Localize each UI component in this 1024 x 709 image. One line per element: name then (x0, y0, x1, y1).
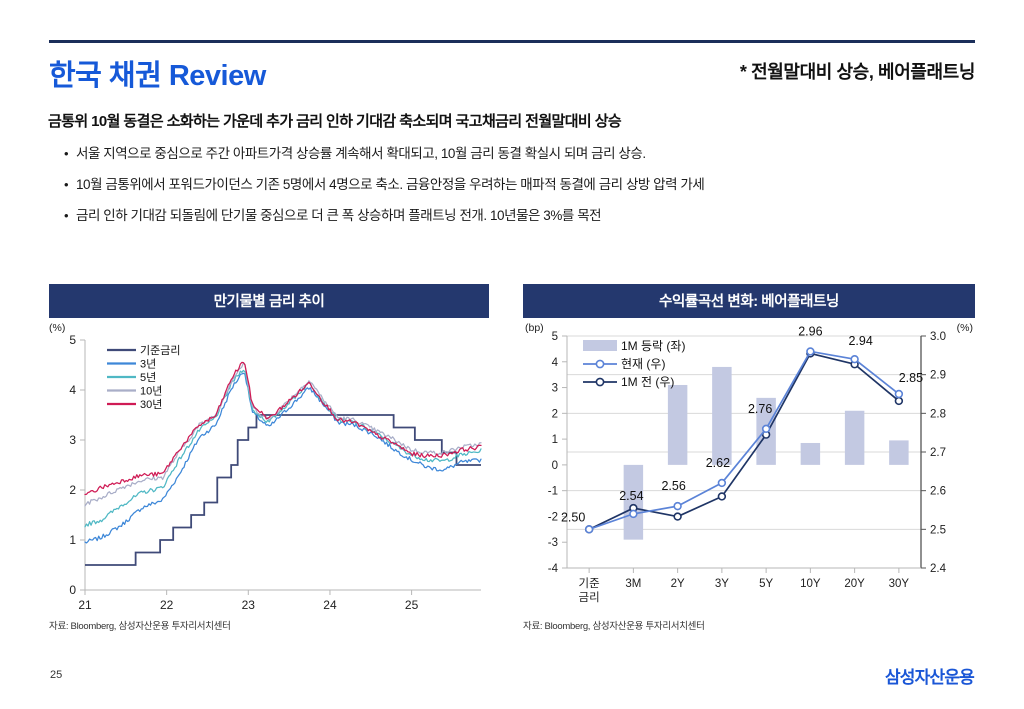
svg-text:3: 3 (552, 383, 558, 395)
svg-text:2.54: 2.54 (619, 489, 643, 503)
svg-text:3.0: 3.0 (930, 331, 946, 343)
svg-text:2.76: 2.76 (748, 402, 772, 416)
svg-text:2.96: 2.96 (798, 324, 822, 338)
svg-text:24: 24 (323, 598, 337, 612)
bullet-dot-icon: • (64, 176, 76, 194)
svg-text:2.85: 2.85 (899, 371, 923, 385)
svg-text:4: 4 (552, 357, 559, 369)
chart-source-maturity: 자료: Bloomberg, 삼성자산운용 투자리서치센터 (49, 618, 231, 632)
svg-text:2.50: 2.50 (561, 510, 585, 524)
svg-text:2.8: 2.8 (930, 408, 946, 420)
line-chart-maturity-svg: 0123452122232425기준금리3년5년10년30년 (49, 318, 489, 636)
list-item: • 금리 인하 기대감 되돌림에 단기물 중심으로 더 큰 폭 상승하며 플래트… (64, 207, 994, 225)
svg-text:기준: 기준 (579, 577, 600, 590)
svg-text:5: 5 (552, 331, 558, 343)
bullet-text: 서울 지역으로 중심으로 주간 아파트가격 상승률 계속해서 확대되고, 10월… (76, 145, 646, 163)
svg-text:25: 25 (405, 598, 419, 612)
svg-text:10년: 10년 (140, 385, 162, 398)
header-rule (49, 40, 975, 43)
svg-text:2.9: 2.9 (930, 370, 946, 382)
svg-text:5: 5 (69, 333, 76, 347)
svg-text:2.6: 2.6 (930, 486, 946, 498)
svg-text:-2: -2 (548, 511, 558, 523)
chart-title-curve: 수익률곡선 변화: 베어플래트닝 (523, 284, 975, 318)
svg-text:1M 등락 (좌): 1M 등락 (좌) (621, 339, 685, 353)
svg-text:2Y: 2Y (671, 578, 685, 590)
svg-text:-4: -4 (548, 563, 559, 575)
y-axis-unit-left-chart: (%) (49, 322, 65, 334)
page-title: 한국 채권 Review (49, 52, 266, 94)
svg-text:5년: 5년 (140, 371, 156, 384)
combo-chart-curve-svg: 543210-1-2-3-43.02.92.82.72.62.52.4기준금리3… (523, 318, 975, 636)
bullet-dot-icon: • (64, 207, 76, 225)
company-logo: 삼성자산운용 (885, 663, 974, 688)
list-item: • 10월 금통위에서 포워드가이던스 기존 5명에서 4명으로 축소. 금융안… (64, 176, 994, 194)
svg-text:30년: 30년 (140, 398, 162, 411)
svg-text:21: 21 (78, 598, 92, 612)
svg-text:0: 0 (69, 583, 76, 597)
page-number: 25 (50, 669, 62, 681)
bullet-text: 금리 인하 기대감 되돌림에 단기물 중심으로 더 큰 폭 상승하며 플래트닝 … (76, 207, 601, 225)
lead-statement: 금통위 10월 동결은 소화하는 가운데 추가 금리 인하 기대감 축소되며 국… (48, 110, 621, 131)
svg-text:2.56: 2.56 (661, 479, 685, 493)
svg-text:1M 전 (우): 1M 전 (우) (621, 375, 674, 389)
svg-text:4: 4 (69, 383, 76, 397)
bullet-dot-icon: • (64, 145, 76, 163)
svg-text:10Y: 10Y (800, 578, 821, 590)
bullet-text: 10월 금통위에서 포워드가이던스 기존 5명에서 4명으로 축소. 금융안정을… (76, 176, 704, 194)
svg-text:현재 (우): 현재 (우) (621, 357, 665, 371)
svg-text:2.4: 2.4 (930, 563, 947, 575)
svg-text:3: 3 (69, 433, 76, 447)
svg-text:기준금리: 기준금리 (140, 344, 180, 357)
bullet-list: • 서울 지역으로 중심으로 주간 아파트가격 상승률 계속해서 확대되고, 1… (64, 145, 994, 239)
svg-text:2.94: 2.94 (848, 334, 872, 348)
svg-text:1: 1 (552, 434, 558, 446)
svg-text:5Y: 5Y (759, 578, 773, 590)
svg-text:3Y: 3Y (715, 578, 729, 590)
svg-text:23: 23 (242, 598, 256, 612)
svg-text:2.7: 2.7 (930, 447, 946, 459)
svg-text:-3: -3 (548, 537, 558, 549)
svg-text:-1: -1 (548, 486, 558, 498)
chart-panel-curve: 수익률곡선 변화: 베어플래트닝 (bp) (%) 543210-1-2-3-4… (523, 284, 975, 638)
y-axis-unit-right-pct: (%) (957, 322, 973, 334)
svg-text:20Y: 20Y (844, 578, 865, 590)
svg-text:1: 1 (69, 533, 76, 547)
chart-title-maturity: 만기물별 금리 추이 (49, 284, 489, 318)
svg-text:22: 22 (160, 598, 174, 612)
svg-text:2: 2 (69, 483, 76, 497)
svg-text:2.5: 2.5 (930, 524, 946, 536)
svg-text:3년: 3년 (140, 358, 156, 371)
chart-panel-maturity: 만기물별 금리 추이 (%) 0123452122232425기준금리3년5년1… (49, 284, 489, 638)
svg-text:0: 0 (552, 460, 558, 472)
page-subtitle: * 전월말대비 상승, 베어플래트닝 (740, 58, 975, 84)
svg-text:2.62: 2.62 (706, 456, 730, 470)
list-item: • 서울 지역으로 중심으로 주간 아파트가격 상승률 계속해서 확대되고, 1… (64, 145, 994, 163)
svg-text:2: 2 (552, 408, 558, 420)
chart-plot-maturity: (%) 0123452122232425기준금리3년5년10년30년 자료: B… (49, 318, 489, 638)
svg-text:금리: 금리 (579, 591, 600, 604)
svg-text:30Y: 30Y (889, 578, 910, 590)
chart-plot-curve: (bp) (%) 543210-1-2-3-43.02.92.82.72.62.… (523, 318, 975, 638)
slide-root: 한국 채권 Review * 전월말대비 상승, 베어플래트닝 금통위 10월 … (0, 0, 1024, 709)
chart-source-curve: 자료: Bloomberg, 삼성자산운용 투자리서치센터 (523, 618, 705, 632)
svg-text:3M: 3M (625, 578, 641, 590)
y-axis-unit-left-bp: (bp) (525, 322, 544, 334)
